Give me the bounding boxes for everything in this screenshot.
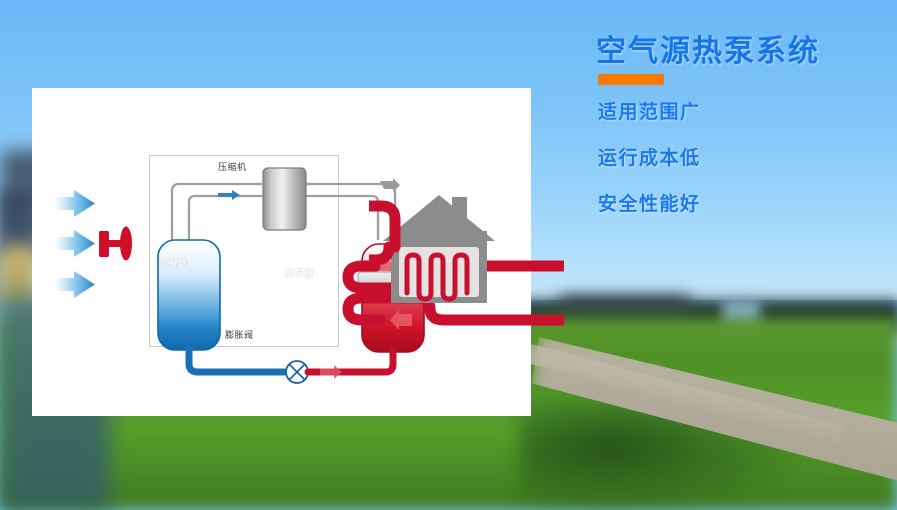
title-accent-bar bbox=[598, 74, 664, 85]
label-evaporator: 蒸发器 bbox=[285, 266, 314, 279]
air-flow-arrow-icon bbox=[54, 271, 95, 298]
label-compressor: 压缩机 bbox=[218, 160, 247, 173]
flow-arrow-icon bbox=[320, 365, 342, 379]
illustration-card: 压缩机 膨胀阀 冷凝器 蒸发器 bbox=[32, 88, 531, 416]
list-item: 运行成本低 bbox=[598, 143, 701, 170]
label-expansion-valve: 膨胀阀 bbox=[225, 328, 254, 341]
house-supply-return-pipes bbox=[369, 206, 395, 260]
feature-list: 适用范围广 运行成本低 安全性能好 bbox=[598, 97, 701, 235]
house-heating-group bbox=[369, 189, 509, 314]
text-panel: 空气源热泵系统 适用范围广 运行成本低 安全性能好 bbox=[560, 0, 897, 510]
page-title: 空气源热泵系统 bbox=[596, 26, 820, 70]
flow-arrow-icon bbox=[218, 190, 240, 200]
fan-icon bbox=[99, 227, 132, 261]
list-item: 安全性能好 bbox=[598, 189, 701, 216]
list-item: 适用范围广 bbox=[598, 97, 701, 124]
air-flow-arrow-icon bbox=[54, 230, 95, 257]
liquid-line-cold bbox=[189, 348, 284, 372]
compressor-unit bbox=[263, 168, 306, 230]
air-flow-arrow-icon bbox=[54, 190, 95, 217]
label-condenser: 冷凝器 bbox=[159, 256, 188, 269]
